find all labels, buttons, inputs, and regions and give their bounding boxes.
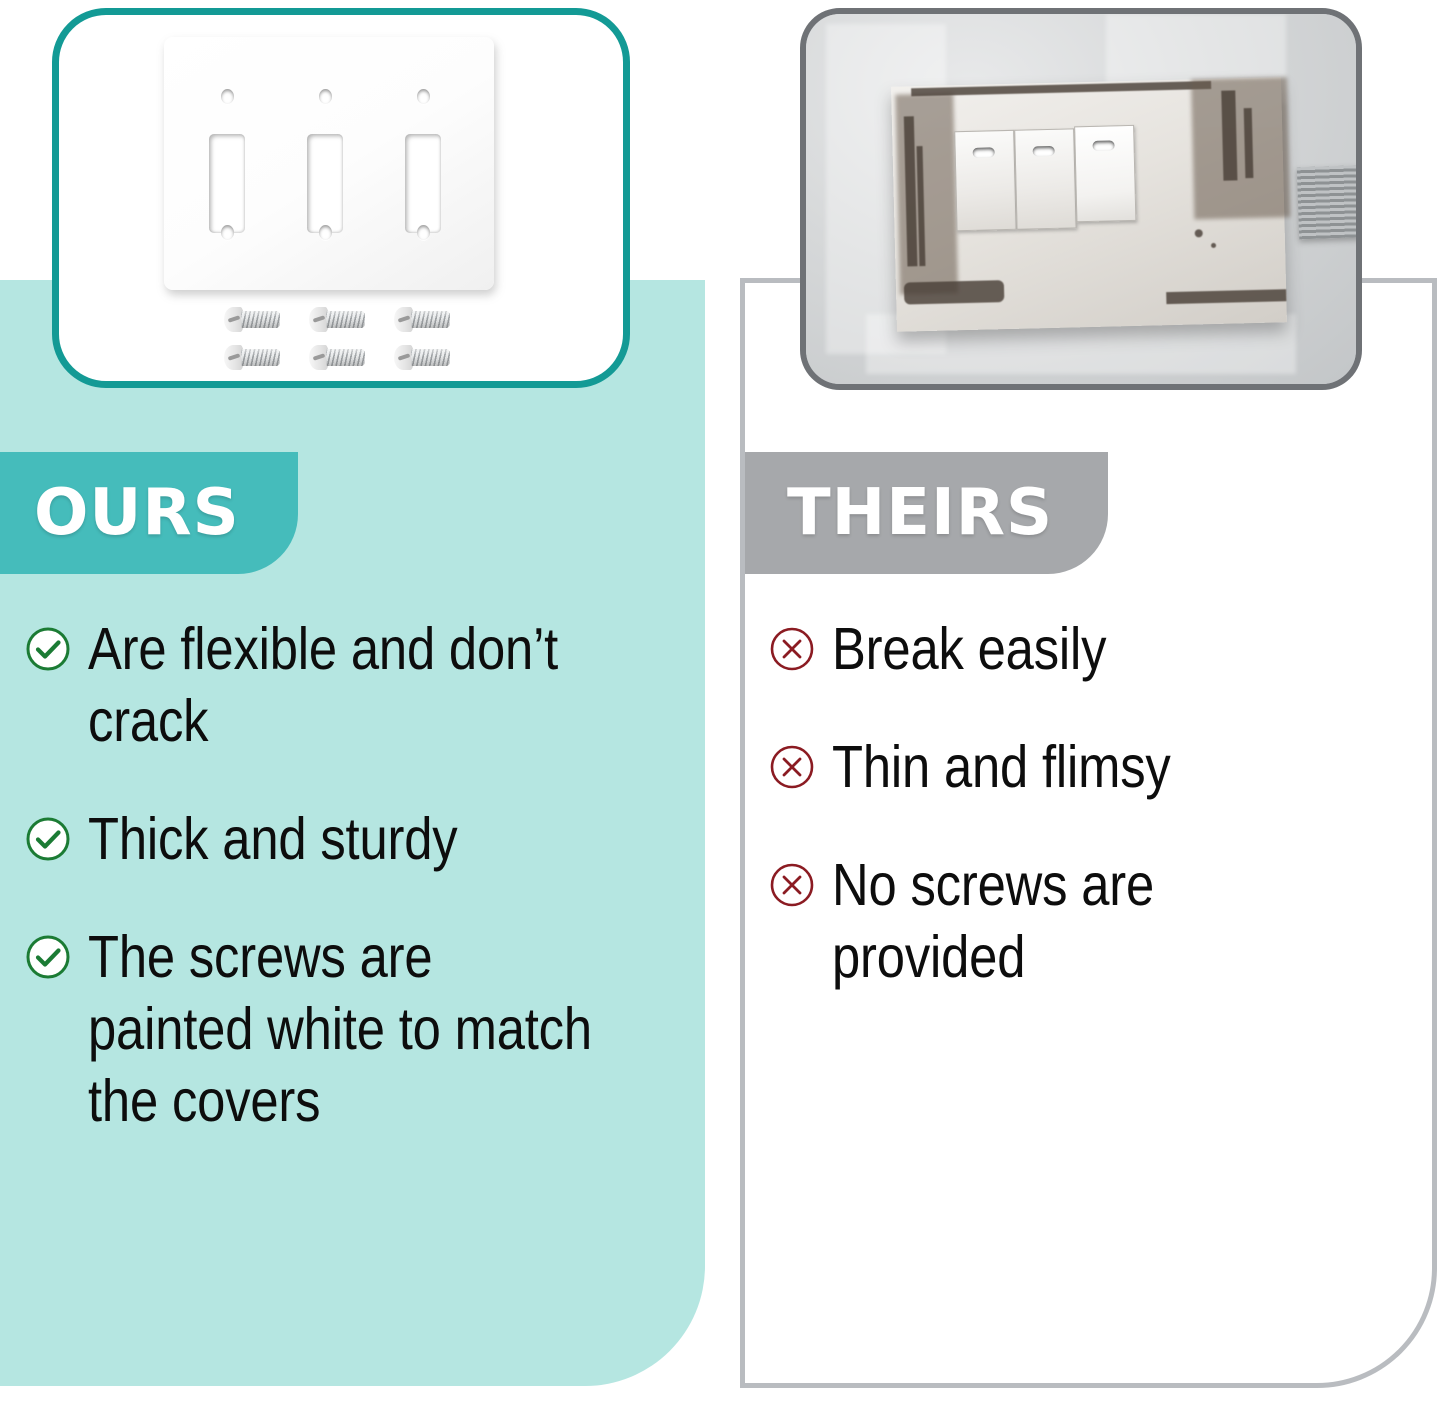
- screw-graphic: [309, 345, 365, 370]
- list-item: Thick and sturdy: [24, 804, 694, 876]
- list-item: No screws are provided: [768, 850, 1428, 994]
- rocker-switch: [954, 130, 1016, 231]
- theirs-feature-list: Break easily Thin and flimsy No screws a…: [768, 614, 1428, 1040]
- ours-feature-list: Are flexible and don’t crack Thick and s…: [24, 614, 694, 1184]
- theirs-banner: THEIRS: [745, 452, 1108, 574]
- list-item-label: Are flexible and don’t crack: [88, 614, 609, 758]
- list-item-label: Thick and sturdy: [88, 804, 609, 876]
- theirs-product-illustration: [806, 14, 1356, 384]
- x-circle-icon: [768, 625, 816, 673]
- list-item: Break easily: [768, 614, 1428, 686]
- check-circle-icon: [24, 625, 72, 673]
- theirs-product-image-card: [800, 8, 1362, 390]
- ours-product-image-card: [52, 8, 630, 388]
- conduit-fitting: [1297, 165, 1362, 240]
- list-item-label: Thin and flimsy: [832, 732, 1345, 804]
- check-circle-icon: [24, 933, 72, 981]
- list-item: Are flexible and don’t crack: [24, 614, 694, 758]
- rocker-switch: [1074, 125, 1136, 222]
- list-item-label: The screws are painted white to match th…: [88, 922, 609, 1138]
- screw-graphic: [224, 307, 280, 332]
- list-item-label: Break easily: [832, 614, 1345, 686]
- list-item-label: No screws are provided: [832, 850, 1345, 994]
- rocker-switch: [1014, 128, 1076, 229]
- dirty-switch-box: [891, 77, 1287, 331]
- x-circle-icon: [768, 743, 816, 791]
- screw-graphic: [224, 345, 280, 370]
- ours-product-illustration: [59, 15, 623, 381]
- ours-banner: OURS: [0, 452, 298, 574]
- ours-banner-label: OURS: [34, 481, 240, 545]
- screw-graphic: [394, 307, 450, 332]
- x-circle-icon: [768, 861, 816, 909]
- theirs-banner-label: THEIRS: [787, 481, 1053, 545]
- list-item: The screws are painted white to match th…: [24, 922, 694, 1138]
- list-item: Thin and flimsy: [768, 732, 1428, 804]
- wall-plate-graphic: [164, 37, 494, 290]
- screw-graphic: [394, 345, 450, 370]
- check-circle-icon: [24, 815, 72, 863]
- screw-graphic: [309, 307, 365, 332]
